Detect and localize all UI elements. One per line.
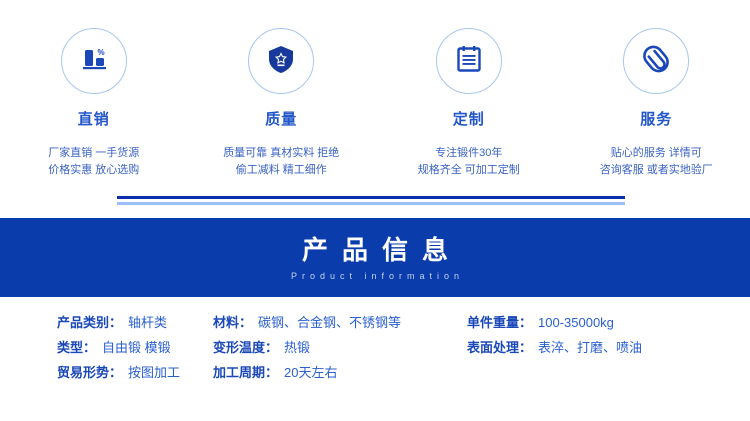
spec-row: 变形温度： 热锻: [213, 337, 455, 362]
bar-chart-percent-icon: %: [77, 42, 111, 81]
feature-item-service[interactable]: 服务 贴心的服务 详情可 咨询客服 或者实地验厂: [563, 0, 750, 179]
features-strip: % 直销 厂家直销 一手货源 价格实惠 放心选购 质量 质量可靠 真材实料 拒绝…: [0, 0, 750, 196]
spec-value: 20天左右: [284, 362, 337, 381]
feature-title: 质量: [265, 108, 297, 129]
spec-value: 自由锻 模锻: [102, 337, 171, 356]
spec-label: 变形温度：: [213, 337, 278, 356]
spec-column-1: 产品类别： 轴杆类 类型： 自由锻 模锻 贸易形势： 按图加工: [0, 312, 205, 387]
shield-star-icon: [264, 42, 298, 81]
product-information-banner: 产品信息 Product information: [0, 218, 750, 297]
feature-icon-circle: [623, 28, 689, 94]
spec-label: 加工周期：: [213, 362, 278, 381]
spec-label: 产品类别：: [57, 312, 122, 331]
divider-line-light: [117, 202, 625, 205]
spec-label: 贸易形势：: [57, 362, 122, 381]
feature-icon-circle: [436, 28, 502, 94]
feature-description: 专注锻件30年 规格齐全 可加工定制: [418, 145, 520, 179]
feature-item-quality[interactable]: 质量 质量可靠 真材实料 拒绝 偷工减料 精工细作: [188, 0, 376, 179]
spec-value: 按图加工: [128, 362, 180, 381]
clipboard-lines-icon: [452, 42, 486, 81]
product-specs: 产品类别： 轴杆类 类型： 自由锻 模锻 贸易形势： 按图加工 材料： 碳钢、合…: [0, 312, 750, 387]
spec-row: 类型： 自由锻 模锻: [57, 337, 205, 362]
banner-title: 产品信息: [288, 234, 462, 266]
feature-item-direct-sales[interactable]: % 直销 厂家直销 一手货源 价格实惠 放心选购: [0, 0, 188, 179]
spec-value: 热锻: [284, 337, 310, 356]
feature-icon-circle: [248, 28, 314, 94]
feature-title: 直销: [78, 108, 110, 129]
spec-value: 表淬、打磨、喷油: [538, 337, 642, 356]
spec-label: 表面处理：: [467, 337, 532, 356]
spec-row: 表面处理： 表淬、打磨、喷油: [467, 337, 750, 362]
spec-row: 单件重量： 100-35000kg: [467, 312, 750, 337]
spec-column-3: 单件重量： 100-35000kg 表面处理： 表淬、打磨、喷油: [455, 312, 750, 387]
paperclip-icon: [639, 42, 673, 81]
spec-column-2: 材料： 碳钢、合金钢、不锈钢等 变形温度： 热锻 加工周期： 20天左右: [205, 312, 455, 387]
spec-row: 材料： 碳钢、合金钢、不锈钢等: [213, 312, 455, 337]
feature-description: 厂家直销 一手货源 价格实惠 放心选购: [48, 145, 139, 179]
spec-value: 轴杆类: [128, 312, 167, 331]
feature-title: 服务: [640, 108, 672, 129]
svg-text:%: %: [97, 48, 104, 57]
feature-icon-circle: %: [61, 28, 127, 94]
spec-label: 类型：: [57, 337, 96, 356]
spec-label: 单件重量：: [467, 312, 532, 331]
feature-description: 质量可靠 真材实料 拒绝 偷工减料 精工细作: [223, 145, 339, 179]
feature-title: 定制: [453, 108, 485, 129]
spec-row: 产品类别： 轴杆类: [57, 312, 205, 337]
spec-value: 100-35000kg: [538, 315, 614, 330]
feature-description: 贴心的服务 详情可 咨询客服 或者实地验厂: [600, 145, 713, 179]
spec-row: 贸易形势： 按图加工: [57, 362, 205, 387]
divider-line-dark: [117, 196, 625, 199]
spec-label: 材料：: [213, 312, 252, 331]
spec-value: 碳钢、合金钢、不锈钢等: [258, 312, 401, 331]
feature-item-customization[interactable]: 定制 专注锻件30年 规格齐全 可加工定制: [375, 0, 563, 179]
banner-subtitle: Product information: [286, 271, 464, 282]
spec-row: 加工周期： 20天左右: [213, 362, 455, 387]
